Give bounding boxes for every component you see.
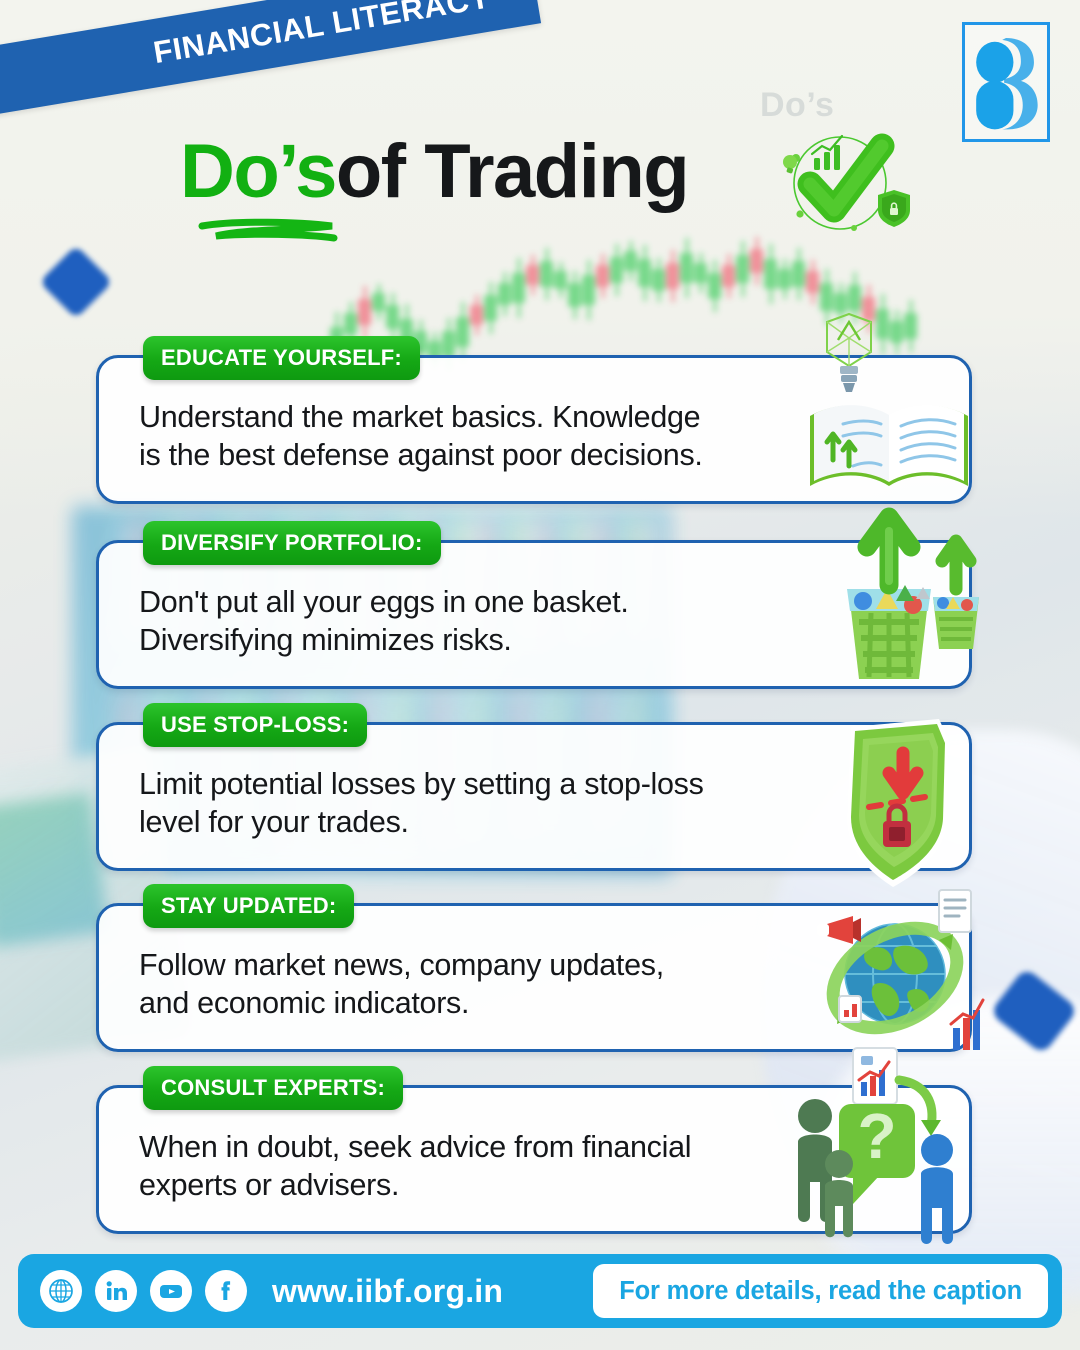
card-stay-updated[interactable]: STAY UPDATED: Follow market news, compan… xyxy=(96,903,972,1052)
card-badge: USE STOP-LOSS: xyxy=(143,703,367,747)
iibf-logo xyxy=(962,22,1050,142)
title-highlight: Do’s xyxy=(180,134,336,210)
card-diversify-portfolio[interactable]: DIVERSIFY PORTFOLIO: Don't put all your … xyxy=(96,540,972,689)
card-line: experts or advisers. xyxy=(139,1166,769,1204)
card-line: When in doubt, seek advice from financia… xyxy=(139,1128,769,1166)
card-line: Understand the market basics. Knowledge xyxy=(139,398,769,436)
title-underline-swoosh xyxy=(196,216,344,246)
facebook-icon[interactable] xyxy=(205,1270,247,1312)
website-url[interactable]: www.iibf.org.in xyxy=(272,1273,503,1310)
infographic-poster: Do’s FINANCIAL LITERACY Do’s of Trading xyxy=(0,0,1080,1350)
card-line: Follow market news, company updates, xyxy=(139,946,769,984)
card-line: Limit potential losses by setting a stop… xyxy=(139,765,769,803)
globe-icon[interactable] xyxy=(40,1270,82,1312)
card-badge: EDUCATE YOURSELF: xyxy=(143,336,420,380)
card-line: Don't put all your eggs in one basket. xyxy=(139,583,769,621)
card-badge: DIVERSIFY PORTFOLIO: xyxy=(143,521,441,565)
card-badge: CONSULT EXPERTS: xyxy=(143,1066,403,1110)
card-use-stop-loss[interactable]: USE STOP-LOSS: Limit potential losses by… xyxy=(96,722,972,871)
card-line: and economic indicators. xyxy=(139,984,769,1022)
caption-cta-label: For more details, read the caption xyxy=(619,1277,1022,1306)
iibf-logo-mark xyxy=(965,25,1047,137)
card-educate-yourself[interactable]: EDUCATE YOURSELF: Understand the market … xyxy=(96,355,972,504)
card-line: Diversifying minimizes risks. xyxy=(139,621,769,659)
background-watermark: Do’s xyxy=(760,86,834,125)
footer-bar: www.iibf.org.in For more details, read t… xyxy=(18,1254,1062,1328)
card-line: is the best defense against poor decisio… xyxy=(139,436,769,474)
title-rest: of Trading xyxy=(336,134,688,210)
caption-cta[interactable]: For more details, read the caption xyxy=(593,1264,1048,1318)
youtube-icon[interactable] xyxy=(150,1270,192,1312)
linkedin-icon[interactable] xyxy=(95,1270,137,1312)
card-line: level for your trades. xyxy=(139,803,769,841)
card-consult-experts[interactable]: CONSULT EXPERTS: When in doubt, seek adv… xyxy=(96,1085,972,1234)
page-title: Do’s of Trading xyxy=(180,126,688,218)
green-check-badge-icon xyxy=(770,128,920,238)
background-laptop-screen xyxy=(0,792,109,947)
card-badge: STAY UPDATED: xyxy=(143,884,354,928)
